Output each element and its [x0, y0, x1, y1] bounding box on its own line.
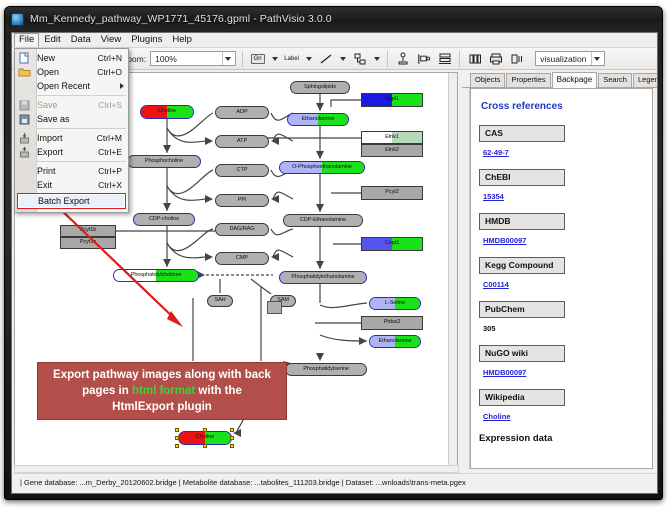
menu-item-save: Save Ctrl+S — [15, 98, 128, 112]
menu-item-label: Open — [37, 67, 97, 77]
menu-file[interactable]: File — [14, 33, 39, 47]
datanode-icon: Gn — [251, 54, 265, 64]
xref-row-nugo: NuGO wiki HMDB00097 — [479, 345, 644, 380]
menu-separator-3 — [37, 161, 126, 162]
menu-plugins[interactable]: Plugins — [126, 33, 167, 47]
menu-item-export[interactable]: Export Ctrl+E — [15, 145, 128, 159]
menu-item-label: Batch Export — [38, 196, 125, 206]
datanode-tool-button[interactable]: Gn — [249, 50, 266, 67]
status-text: | Gene database: ...m_Derby_20120602.bri… — [14, 478, 466, 487]
xref-link-hmdb[interactable]: HMDB00097 — [483, 236, 526, 245]
menu-item-label: Exit — [37, 180, 98, 190]
callout-annotation: Export pathway images along with back pa… — [37, 362, 287, 420]
visualization-combo[interactable]: visualization — [535, 51, 605, 66]
side-panel-tabs: Objects Properties Backpage Search Legen… — [462, 72, 657, 88]
application-window: Mm_Kennedy_pathway_WP1771_45176.gpml - P… — [4, 6, 663, 500]
menu-separator-2 — [37, 128, 126, 129]
tab-backpage[interactable]: Backpage — [552, 72, 598, 88]
status-bar: | Gene database: ...m_Derby_20120602.bri… — [14, 473, 657, 491]
xref-row-chebi: ChEBI 15354 — [479, 169, 644, 204]
toolbar-separator — [242, 51, 243, 67]
menu-separator-1 — [37, 95, 126, 96]
menu-item-save-as[interactable]: Save as — [15, 112, 128, 126]
menu-item-accel: Ctrl+M — [97, 133, 128, 143]
xref-label-nugo: NuGO wiki — [479, 345, 565, 362]
zoom-combo[interactable]: 100% — [150, 51, 236, 66]
callout-line-2: pages in html format with the — [82, 383, 242, 399]
window-title: Mm_Kennedy_pathway_WP1771_45176.gpml - P… — [30, 13, 332, 25]
xref-label-pubchem: PubChem — [479, 301, 565, 318]
menu-item-print[interactable]: Print Ctrl+P — [15, 164, 128, 178]
menu-item-accel: Ctrl+E — [98, 147, 128, 157]
zoom-value: 100% — [155, 54, 222, 64]
menu-edit[interactable]: Edit — [39, 33, 65, 47]
common-width-icon — [510, 52, 524, 66]
align-stack-icon — [438, 52, 452, 66]
menu-view[interactable]: View — [96, 33, 126, 47]
xref-label-kegg: Kegg Compound — [479, 257, 565, 274]
common-width-button[interactable] — [508, 50, 525, 67]
interaction-icon — [353, 52, 367, 66]
datanode-dropdown-icon[interactable] — [270, 50, 279, 67]
chevron-down-icon-visualization[interactable] — [591, 52, 602, 65]
xref-label-chebi: ChEBI — [479, 169, 565, 186]
xref-row-pubchem: PubChem 305 — [479, 301, 644, 336]
same-width-icon — [468, 52, 482, 66]
title-bar: Mm_Kennedy_pathway_WP1771_45176.gpml - P… — [5, 7, 663, 31]
align-top-icon — [396, 52, 410, 66]
callout-line-2a: pages in — [82, 385, 132, 397]
side-panel-gutter — [462, 88, 470, 469]
xref-row-kegg: Kegg Compound C00114 — [479, 257, 644, 292]
align-left-button[interactable] — [415, 50, 432, 67]
line-icon — [319, 52, 333, 66]
save-disk-icon — [18, 99, 31, 111]
label-tool-button[interactable]: Label — [283, 50, 300, 67]
cross-references-heading: Cross references — [481, 101, 644, 112]
menu-item-label: Save as — [37, 114, 122, 124]
callout-highlight: html format — [132, 385, 195, 397]
menu-help[interactable]: Help — [167, 33, 197, 47]
xref-label-hmdb: HMDB — [479, 213, 565, 230]
export-icon — [18, 146, 31, 158]
print-button[interactable] — [487, 50, 504, 67]
callout-line-1: Export pathway images along with back — [53, 367, 271, 383]
expression-data-heading: Expression data — [479, 433, 644, 444]
menu-bar: File Edit Data View Plugins Help — [12, 33, 657, 48]
import-icon — [18, 132, 31, 144]
tab-objects[interactable]: Objects — [470, 73, 505, 87]
open-folder-icon — [18, 66, 31, 78]
tab-search[interactable]: Search — [598, 73, 632, 87]
menu-item-label: Save — [37, 100, 98, 110]
menu-item-accel: Ctrl+X — [98, 180, 128, 190]
menu-item-label: Open Recent — [37, 81, 120, 91]
tab-legend[interactable]: Legend — [633, 73, 658, 87]
xref-value-pubchem: 305 — [483, 324, 496, 333]
screenshot-root: Mm_Kennedy_pathway_WP1771_45176.gpml - P… — [0, 0, 670, 509]
backpage-content[interactable]: Cross references CAS 62-49-7 ChEBI 15354… — [470, 88, 653, 469]
menu-item-accel: Ctrl+S — [98, 100, 128, 110]
interaction-tool-button[interactable] — [351, 50, 368, 67]
xref-link-cas[interactable]: 62-49-7 — [483, 148, 509, 157]
same-width-button[interactable] — [466, 50, 483, 67]
line-dropdown-icon[interactable] — [338, 50, 347, 67]
file-menu-dropdown[interactable]: New Ctrl+N Open Ctrl+O Open Recent — [14, 48, 129, 213]
menu-item-accel: Ctrl+N — [98, 53, 128, 63]
pathvisio-app-icon — [11, 13, 24, 26]
menu-item-label: Import — [37, 133, 97, 143]
xref-row-hmdb: HMDB HMDB00097 — [479, 213, 644, 248]
align-top-button[interactable] — [394, 50, 411, 67]
xref-row-wikipedia: Wikipedia Choline — [479, 389, 644, 424]
menu-item-label: Print — [37, 166, 98, 176]
tab-properties[interactable]: Properties — [506, 73, 550, 87]
label-dropdown-icon[interactable] — [304, 50, 313, 67]
callout-line-3: HtmlExport plugin — [112, 399, 212, 415]
menu-item-accel: Ctrl+O — [97, 67, 128, 77]
xref-link-nugo[interactable]: HMDB00097 — [483, 368, 526, 377]
menu-data[interactable]: Data — [66, 33, 96, 47]
line-tool-button[interactable] — [317, 50, 334, 67]
label-icon: Label — [282, 55, 301, 63]
interaction-dropdown-icon[interactable] — [372, 50, 381, 67]
printer-icon — [489, 52, 503, 66]
align-left-icon — [416, 52, 431, 66]
xref-label-cas: CAS — [479, 125, 565, 142]
xref-label-wikipedia: Wikipedia — [479, 389, 565, 406]
xref-row-cas: CAS 62-49-7 — [479, 125, 644, 160]
menu-item-label: New — [37, 53, 98, 63]
menu-item-batch-export[interactable]: Batch Export — [17, 193, 126, 209]
toolbar-separator-3 — [459, 51, 460, 67]
visualization-value: visualization — [540, 54, 591, 64]
menu-item-new[interactable]: New Ctrl+N — [15, 51, 128, 65]
application-body: File Edit Data View Plugins Help Zoom: 1… — [11, 32, 658, 494]
xref-link-wikipedia[interactable]: Choline — [483, 412, 511, 421]
callout-line-2b: with the — [195, 385, 242, 397]
save-as-icon — [18, 113, 31, 125]
xref-link-chebi[interactable]: 15354 — [483, 192, 504, 201]
chevron-down-icon[interactable] — [222, 52, 233, 65]
side-panel: Objects Properties Backpage Search Legen… — [462, 72, 657, 470]
submenu-arrow-icon — [120, 83, 124, 89]
menu-item-open-recent[interactable]: Open Recent — [15, 79, 128, 93]
menu-item-open[interactable]: Open Ctrl+O — [15, 65, 128, 79]
menu-item-accel: Ctrl+P — [98, 166, 128, 176]
menu-item-import[interactable]: Import Ctrl+M — [15, 131, 128, 145]
new-document-icon — [18, 52, 31, 64]
align-stack-button[interactable] — [436, 50, 453, 67]
menu-item-exit[interactable]: Exit Ctrl+X — [15, 178, 128, 192]
menu-item-label: Export — [37, 147, 98, 157]
toolbar-separator-2 — [387, 51, 388, 67]
xref-link-kegg[interactable]: C00114 — [483, 280, 509, 289]
